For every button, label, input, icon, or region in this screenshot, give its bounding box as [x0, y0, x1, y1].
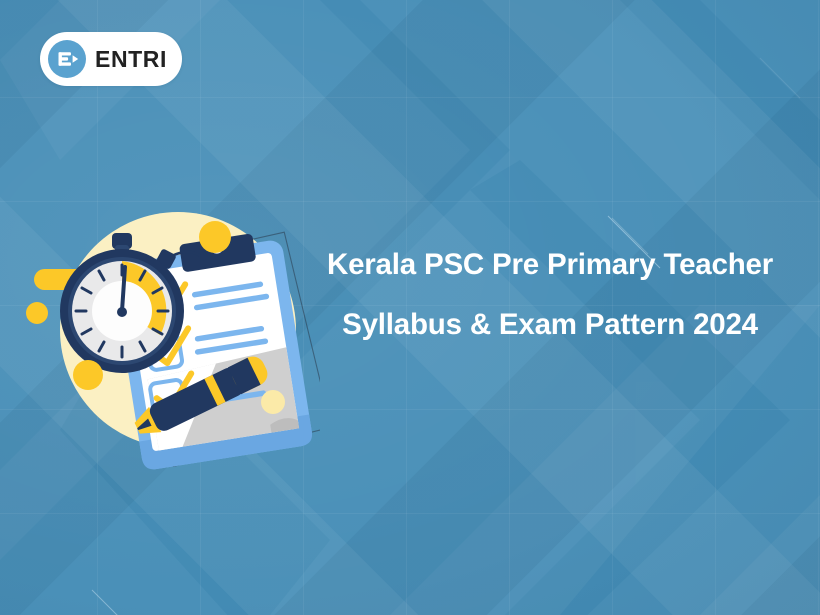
entri-wordmark: ENTRI	[95, 48, 167, 71]
page-title: Kerala PSC Pre Primary Teacher Syllabus …	[300, 248, 800, 342]
yellow-dot-right	[261, 390, 285, 414]
headline-line-2: Syllabus & Exam Pattern 2024	[300, 308, 800, 342]
yellow-dot-upper	[199, 221, 231, 253]
entri-e-play-icon	[48, 40, 86, 78]
yellow-dot-left	[73, 360, 103, 390]
banner-canvas: ENTRI	[0, 0, 820, 615]
headline-line-1: Kerala PSC Pre Primary Teacher	[300, 248, 800, 282]
checklist-clipboard-stopwatch-illustration	[20, 195, 320, 485]
entri-logo[interactable]: ENTRI	[40, 32, 182, 86]
